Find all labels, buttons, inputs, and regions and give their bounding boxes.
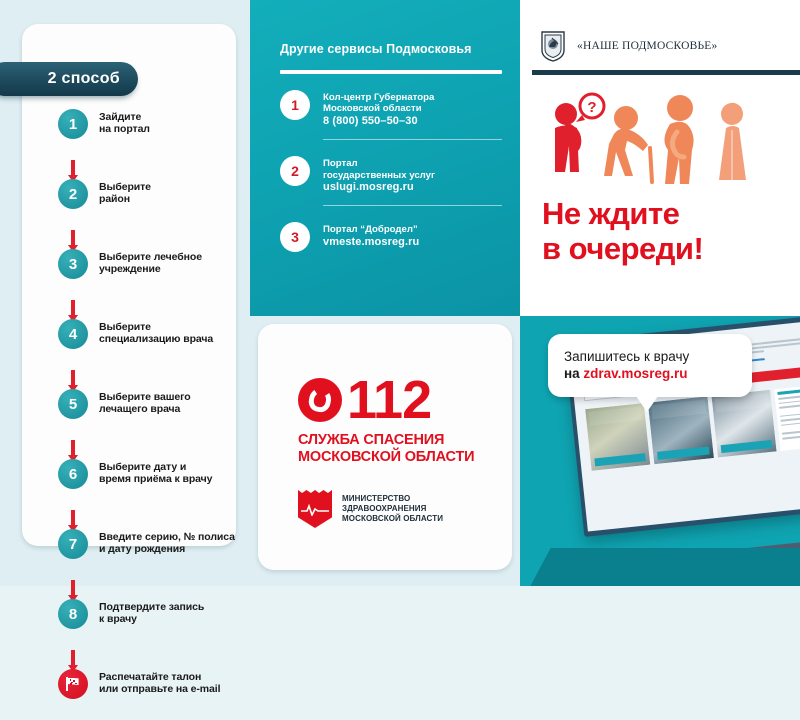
step-number: 5 (58, 389, 88, 419)
promo-panel: ЭЛЕКТРОННАЯ РЕГИСТРАТУРА (520, 316, 800, 586)
card-insurance[interactable] (648, 396, 714, 464)
step-text: Выберите вашеголечащего врача (99, 388, 191, 416)
ministry-line2: ЗДРАВООХРАНЕНИЯ (342, 504, 426, 513)
monitor-base-shadow (529, 548, 800, 586)
callout-line1: Запишитесь к врачу (564, 348, 738, 365)
list-item: 8 Подтвердите записьк врачу (58, 598, 258, 650)
step-number: 2 (58, 179, 88, 209)
rescue-subtitle-line1: СЛУЖБА СПАСЕНИЯ (298, 432, 444, 448)
brand-name: «НАШЕ ПОДМОСКОВЬЕ» (577, 40, 717, 52)
service-number: 1 (280, 90, 310, 120)
services-title: Другие сервисы Подмосковья (280, 42, 502, 56)
steps-card: 2 способ 1 Зайдитена портал 2 Выберитера… (22, 24, 236, 546)
service-text: Портал “Добродел” vmeste.mosreg.ru (323, 222, 419, 248)
step-text: Выберитерайон (99, 178, 151, 206)
side-column (775, 384, 800, 451)
method-tab-label: 2 способ (48, 70, 120, 88)
svg-text:?: ? (587, 99, 596, 116)
rescue-subtitle: СЛУЖБА СПАСЕНИЯ МОСКОВСКОЙ ОБЛАСТИ (298, 432, 474, 465)
list-item: 2 Выберитерайон (58, 178, 258, 230)
step-text: Введите серию, № полисаи дату рождения (99, 528, 235, 556)
finish-flag-icon (58, 669, 88, 699)
list-item: 4 Выберитеспециализацию врача (58, 318, 258, 370)
list-item: 7 Введите серию, № полисаи дату рождения (58, 528, 258, 580)
step-number: 3 (58, 249, 88, 279)
step-text: Выберитеспециализацию врача (99, 318, 213, 346)
service-url[interactable]: uslugi.mosreg.ru (323, 182, 435, 193)
list-item[interactable]: 1 Кол-центр Губернатора Московской облас… (280, 90, 502, 127)
step-number: 7 (58, 529, 88, 559)
step-text: Зайдитена портал (99, 108, 150, 136)
ministry-logo: МИНИСТЕРСТВО ЗДРАВООХРАНЕНИЯ МОСКОВСКОЙ … (298, 490, 443, 528)
arrow-down-icon (71, 300, 75, 316)
service-line2: государственных услуг (323, 170, 435, 181)
step-number: 6 (58, 459, 88, 489)
list-item: 5 Выберите вашеголечащего врача (58, 388, 258, 440)
phone-icon (298, 378, 342, 422)
arrow-down-icon (71, 510, 75, 526)
service-line1: Портал (323, 158, 358, 169)
rescue-card: 112 СЛУЖБА СПАСЕНИЯ МОСКОВСКОЙ ОБЛАСТИ М… (258, 324, 512, 570)
arrow-down-icon (71, 580, 75, 596)
callout-line2: на zdrav.mosreg.ru (564, 365, 738, 382)
callout-prefix: на (564, 366, 583, 381)
ministry-text: МИНИСТЕРСТВО ЗДРАВООХРАНЕНИЯ МОСКОВСКОЙ … (342, 494, 443, 523)
slogan-line2: в очереди! (542, 231, 703, 266)
arrow-down-icon (71, 650, 75, 666)
arrow-down-icon (71, 370, 75, 386)
rescue-subtitle-line2: МОСКОВСКОЙ ОБЛАСТИ (298, 449, 474, 465)
arrow-down-icon (71, 160, 75, 176)
service-text: Кол-центр Губернатора Московской области… (323, 90, 434, 127)
ministry-line3: МОСКОВСКОЙ ОБЛАСТИ (342, 514, 443, 523)
ministry-line1: МИНИСТЕРСТВО (342, 494, 410, 503)
poster-root: 2 способ 1 Зайдитена портал 2 Выберитера… (0, 0, 800, 586)
step-text: Подтвердите записьк врачу (99, 598, 204, 626)
service-text: Портал государственных услуг uslugi.mosr… (323, 156, 435, 193)
method-tab[interactable]: 2 способ (0, 62, 138, 96)
login-button[interactable] (750, 366, 800, 383)
rescue-number-row: 112 (298, 378, 431, 422)
service-line1: Кол-центр Губернатора (323, 92, 434, 103)
card-status[interactable] (711, 390, 777, 458)
ecg-icon (301, 504, 329, 516)
callout-url[interactable]: zdrav.mosreg.ru (583, 366, 687, 381)
list-item: Распечатайте талонили отправьте на e-mai… (58, 668, 258, 720)
list-item: 6 Выберите дату ивремя приёма к врачу (58, 458, 258, 510)
card-pharmacy[interactable] (585, 403, 651, 471)
queue-people-icon: ? (540, 92, 790, 184)
callout-bubble: Запишитесь к врачу на zdrav.mosreg.ru (548, 334, 752, 397)
service-phone: 8 (800) 550–50–30 (323, 116, 434, 127)
service-number: 3 (280, 222, 310, 252)
rescue-number: 112 (347, 378, 431, 422)
divider (532, 70, 800, 75)
brand-logo: «НАШЕ ПОДМОСКОВЬЕ» (540, 30, 717, 62)
arrow-down-icon (71, 440, 75, 456)
step-number: 4 (58, 319, 88, 349)
list-item: 1 Зайдитена портал (58, 108, 258, 160)
list-item: 3 Выберите лечебноеучреждение (58, 248, 258, 300)
step-text: Выберите дату ивремя приёма к врачу (99, 458, 212, 486)
brand-panel: «НАШЕ ПОДМОСКОВЬЕ» ? Не ждит (520, 0, 800, 316)
steps-list: 1 Зайдитена портал 2 Выберитерайон 3 Выб… (58, 108, 258, 720)
slogan: Не ждите в очереди! (542, 196, 703, 266)
arrow-down-icon (71, 230, 75, 246)
service-url[interactable]: vmeste.mosreg.ru (323, 237, 419, 248)
step-number: 8 (58, 599, 88, 629)
divider (323, 139, 502, 140)
service-number: 2 (280, 156, 310, 186)
service-line1: Портал “Добродел” (323, 224, 418, 235)
divider (280, 70, 502, 74)
step-number: 1 (58, 109, 88, 139)
services-panel: Другие сервисы Подмосковья 1 Кол-центр Г… (250, 0, 520, 316)
slogan-line1: Не ждите (542, 196, 679, 231)
step-text: Выберите лечебноеучреждение (99, 248, 202, 276)
shield-icon (298, 490, 332, 528)
step-text: Распечатайте талонили отправьте на e-mai… (99, 668, 220, 696)
list-item[interactable]: 3 Портал “Добродел” vmeste.mosreg.ru (280, 222, 502, 252)
coat-of-arms-icon (540, 30, 566, 62)
list-item[interactable]: 2 Портал государственных услуг uslugi.mo… (280, 156, 502, 193)
divider (323, 205, 502, 206)
service-line2: Московской области (323, 103, 422, 114)
